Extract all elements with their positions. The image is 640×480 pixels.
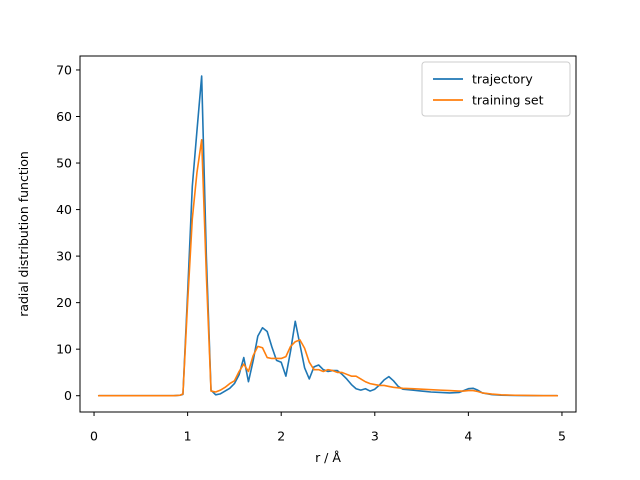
y-axis-title: radial distribution function (16, 151, 31, 317)
x-tick-label: 1 (184, 429, 192, 444)
y-tick-label: 20 (56, 295, 72, 310)
x-tick-label: 2 (277, 429, 285, 444)
radial-distribution-plot: 012345010203040506070r / Åradial distrib… (0, 0, 640, 480)
y-tick-label: 50 (56, 156, 72, 171)
y-tick-label: 40 (56, 202, 72, 217)
y-tick-label: 10 (56, 342, 72, 357)
x-tick-label: 4 (464, 429, 472, 444)
x-tick-label: 5 (558, 429, 566, 444)
legend-box (422, 62, 570, 116)
y-tick-label: 30 (56, 249, 72, 264)
legend-label-training-set[interactable]: training set (472, 93, 544, 108)
legend[interactable]: trajectorytraining set (422, 62, 570, 116)
x-tick-label: 3 (371, 429, 379, 444)
y-tick-label: 0 (64, 388, 72, 403)
x-axis-title: r / Å (315, 450, 341, 465)
figure-canvas: 012345010203040506070r / Åradial distrib… (0, 0, 640, 480)
y-tick-label: 70 (56, 62, 72, 77)
x-tick-label: 0 (90, 429, 98, 444)
y-tick-label: 60 (56, 109, 72, 124)
legend-label-trajectory[interactable]: trajectory (472, 72, 533, 87)
